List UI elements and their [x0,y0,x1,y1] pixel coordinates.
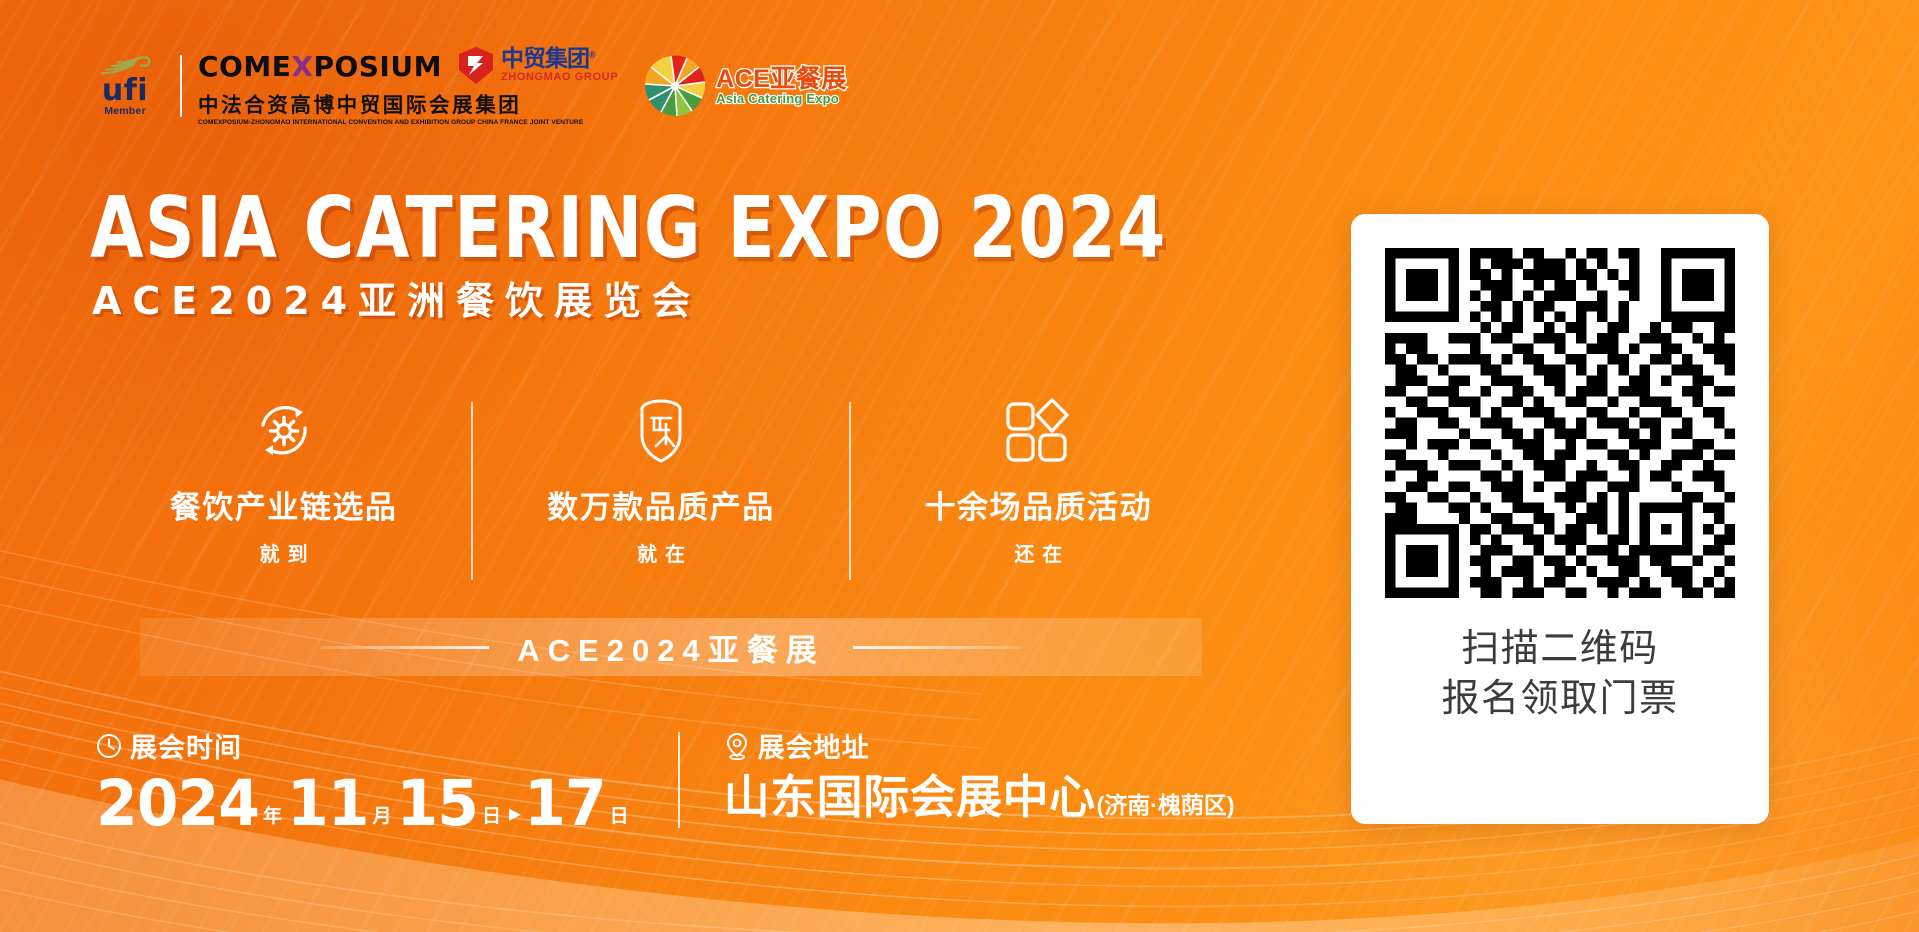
feature-item-supply-chain: 餐饮产业链选品 就到 [96,398,471,588]
zhongmao-mark-icon [456,46,496,86]
feature-title: 十余场品质活动 [925,482,1153,527]
event-date-value: 2024 年 11 月 15 日 ▸ 17 日 [96,774,634,834]
ace-en-name: Asia Catering Expo [716,92,847,106]
date-month: 11 [287,772,369,836]
ufi-member-logo[interactable]: ufi Member [86,55,164,118]
feature-subtitle: 就在 [629,538,693,567]
event-date-block: 展会时间 2024 年 11 月 15 日 ▸ 17 日 [96,726,634,834]
qr-caption: 扫描二维码 报名领取门票 [1441,624,1678,724]
feature-highlights: 餐饮产业链选品 就到 数万款品质产品 就在 [96,398,1226,588]
event-venue-label: 展会地址 [758,726,870,765]
ace-cn-name: ACE亚餐展 [716,66,847,92]
partner-logo-row: ufi Member COMEXPOSIUM 中贸集团® ZHONGMAO GR… [86,48,847,124]
four-shapes-icon [1003,398,1073,464]
comexposium-wordmark: COMEXPOSIUM [198,50,442,83]
date-month-unit: 月 [373,801,392,828]
registered-mark: ® [589,50,595,60]
qr-registration-card[interactable]: 扫描二维码 报名领取门票 [1351,214,1769,824]
logo-divider-1 [180,55,182,117]
date-range-arrow-icon: ▸ [509,799,521,828]
headline-chinese: ACE2024亚洲餐饮展览会 [92,282,701,320]
date-year-unit: 年 [263,801,282,828]
zhongmao-en-name: ZHONGMAO GROUP [501,70,618,84]
comexposium-word-x: X [291,50,313,83]
comexposium-word-right: POSIUM [313,50,442,83]
date-day-start-unit: 日 [482,801,501,828]
qr-code-icon[interactable] [1385,248,1735,598]
event-venue-value: 山东国际会展中心 (济南·槐荫区) [724,774,1235,820]
date-day-end-unit: 日 [610,801,629,828]
qr-caption-line-1: 扫描二维码 [1441,624,1678,674]
ufi-wordmark: ufi [102,78,148,104]
ribbon-rule-left [321,646,489,649]
feature-title: 数万款品质产品 [547,482,775,527]
headline-english: ASIA CATERING EXPO 2024 [90,185,1167,270]
ace-pinwheel-icon [642,53,708,119]
info-divider [678,732,680,828]
ace-expo-logo[interactable]: ACE亚餐展 Asia Catering Expo [642,53,847,119]
gear-recycle-icon [251,398,317,464]
zhongmao-cn-name: 中贸集团® [501,47,618,70]
event-date-label: 展会时间 [130,726,242,765]
comexposium-zhongmao-logo[interactable]: COMEXPOSIUM 中贸集团® ZHONGMAO GROUP 中法合资高博中… [198,46,618,126]
date-day-end: 17 [524,772,606,836]
event-name-ribbon: ACE2024亚餐展 [140,618,1202,676]
zhongmao-group-logo: 中贸集团® ZHONGMAO GROUP [456,46,618,86]
quality-shield-icon [636,398,686,464]
location-pin-icon [724,732,750,760]
feature-subtitle: 还在 [1006,538,1070,567]
venue-name: 山东国际会展中心 [724,774,1096,820]
date-year: 2024 [96,772,259,836]
ufi-member-label: Member [104,105,145,117]
qr-caption-line-2: 报名领取门票 [1441,674,1678,724]
comexposium-en-name: COMEXPOSIUM-ZHONGMAO INTERNATIONAL CONVE… [198,119,627,126]
date-day-start: 15 [397,772,479,836]
event-venue-block: 展会地址 山东国际会展中心 (济南·槐荫区) [724,726,1235,820]
feature-subtitle: 就到 [252,538,316,567]
ribbon-rule-right [853,646,1021,649]
ribbon-label: ACE2024亚餐展 [517,625,824,670]
event-info-row: 展会时间 2024 年 11 月 15 日 ▸ 17 日 [96,726,1235,834]
feature-title: 餐饮产业链选品 [170,482,398,527]
feature-item-events: 十余场品质活动 还在 [851,398,1226,588]
feature-item-quality-products: 数万款品质产品 就在 [473,398,848,588]
venue-district: (济南·槐荫区) [1097,786,1235,820]
promo-banner: ufi Member COMEXPOSIUM 中贸集团® ZHONGMAO GR… [0,0,1919,932]
clock-icon [96,733,122,759]
comexposium-word-left: COME [198,50,291,83]
comexposium-cn-name: 中法合资高博中贸国际会展集团 [198,88,618,118]
